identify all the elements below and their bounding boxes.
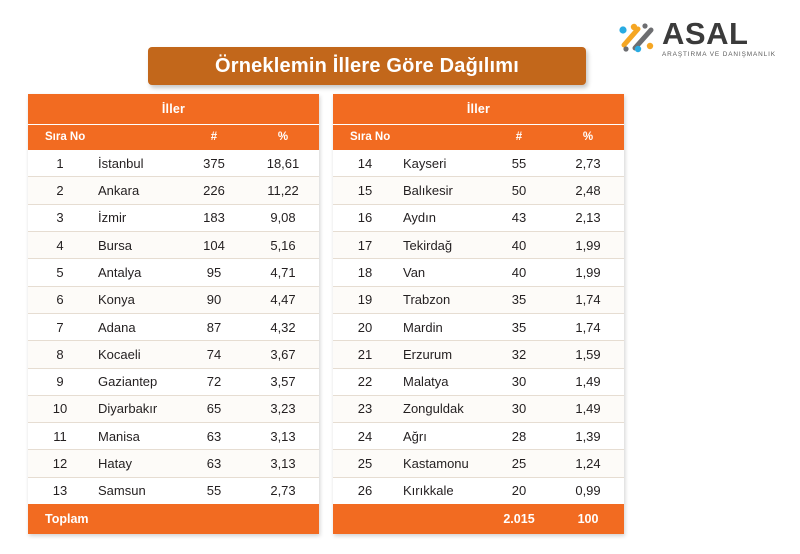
cell-percent: 18,61 <box>247 156 319 171</box>
cell-sira-no: 6 <box>28 292 92 307</box>
cell-count: 20 <box>486 483 552 498</box>
cell-percent: 11,22 <box>247 183 319 198</box>
cell-sira-no: 11 <box>28 429 92 444</box>
table-row[interactable]: 19 Trabzon 35 1,74 <box>333 287 624 314</box>
cell-sira-no: 3 <box>28 210 92 225</box>
cell-percent: 1,49 <box>552 374 624 389</box>
cell-percent: 4,71 <box>247 265 319 280</box>
cell-percent: 2,48 <box>552 183 624 198</box>
cell-count: 30 <box>486 374 552 389</box>
cell-count: 90 <box>181 292 247 307</box>
table-row[interactable]: 14 Kayseri 55 2,73 <box>333 150 624 177</box>
table-footer-left: Toplam <box>28 504 319 534</box>
cell-name: Kırıkkale <box>397 483 486 498</box>
cell-sira-no: 23 <box>333 401 397 416</box>
cell-percent: 5,16 <box>247 238 319 253</box>
cell-sira-no: 13 <box>28 483 92 498</box>
cell-name: Trabzon <box>397 292 486 307</box>
table-row[interactable]: 8 Kocaeli 74 3,67 <box>28 341 319 368</box>
cell-sira-no: 9 <box>28 374 92 389</box>
cell-name: Manisa <box>92 429 181 444</box>
cell-name: Kayseri <box>397 156 486 171</box>
cell-name: İzmir <box>92 210 181 225</box>
cell-sira-no: 17 <box>333 238 397 253</box>
cell-count: 28 <box>486 429 552 444</box>
cell-percent: 4,32 <box>247 320 319 335</box>
table-row[interactable]: 7 Adana 87 4,32 <box>28 314 319 341</box>
table-row[interactable]: 24 Ağrı 28 1,39 <box>333 423 624 450</box>
cell-name: Ağrı <box>397 429 486 444</box>
cell-percent: 1,99 <box>552 265 624 280</box>
table-body-left: 1 İstanbul 375 18,61 2 Ankara 226 11,22 … <box>28 150 319 504</box>
asal-logo: ASAL ARAŞTIRMA VE DANIŞMANLIK <box>618 14 778 62</box>
cell-count: 65 <box>181 401 247 416</box>
cell-count: 25 <box>486 456 552 471</box>
cell-percent: 1,49 <box>552 401 624 416</box>
cell-percent: 3,23 <box>247 401 319 416</box>
table-row[interactable]: 10 Diyarbakır 65 3,23 <box>28 396 319 423</box>
cell-sira-no: 12 <box>28 456 92 471</box>
cell-percent: 1,59 <box>552 347 624 362</box>
table-row[interactable]: 11 Manisa 63 3,13 <box>28 423 319 450</box>
cell-name: Balıkesir <box>397 183 486 198</box>
table-row[interactable]: 9 Gaziantep 72 3,57 <box>28 369 319 396</box>
table-footer-right: 2.015 100 <box>333 504 624 534</box>
cell-name: Zonguldak <box>397 401 486 416</box>
table-group-header: İller <box>333 94 624 124</box>
cell-percent: 9,08 <box>247 210 319 225</box>
cell-name: Van <box>397 265 486 280</box>
table-row[interactable]: 12 Hatay 63 3,13 <box>28 450 319 477</box>
cell-percent: 1,39 <box>552 429 624 444</box>
column-header-percent: % <box>247 131 319 143</box>
cell-count: 43 <box>486 210 552 225</box>
table-row[interactable]: 26 Kırıkkale 20 0,99 <box>333 478 624 504</box>
cell-count: 55 <box>486 156 552 171</box>
cell-percent: 0,99 <box>552 483 624 498</box>
table-row[interactable]: 23 Zonguldak 30 1,49 <box>333 396 624 423</box>
cell-percent: 2,73 <box>552 156 624 171</box>
cell-name: Malatya <box>397 374 486 389</box>
cell-name: Samsun <box>92 483 181 498</box>
cell-name: Antalya <box>92 265 181 280</box>
cell-name: Kastamonu <box>397 456 486 471</box>
cell-percent: 3,13 <box>247 456 319 471</box>
cell-name: Mardin <box>397 320 486 335</box>
cell-sira-no: 22 <box>333 374 397 389</box>
table-column-headers: Sıra No # % <box>333 124 624 150</box>
cell-percent: 3,13 <box>247 429 319 444</box>
column-header-count: # <box>181 131 247 143</box>
cell-name: Aydın <box>397 210 486 225</box>
table-row[interactable]: 21 Erzurum 32 1,59 <box>333 341 624 368</box>
cell-sira-no: 10 <box>28 401 92 416</box>
cell-percent: 4,47 <box>247 292 319 307</box>
cell-name: Hatay <box>92 456 181 471</box>
asal-logo-wordmark: ASAL <box>662 18 776 49</box>
table-row[interactable]: 17 Tekirdağ 40 1,99 <box>333 232 624 259</box>
cell-name: Erzurum <box>397 347 486 362</box>
cell-sira-no: 18 <box>333 265 397 280</box>
page-title: Örneklemin İllere Göre Dağılımı <box>215 55 519 78</box>
cell-sira-no: 14 <box>333 156 397 171</box>
cell-count: 87 <box>181 320 247 335</box>
table-row[interactable]: 4 Bursa 104 5,16 <box>28 232 319 259</box>
cell-count: 50 <box>486 183 552 198</box>
cell-count: 35 <box>486 292 552 307</box>
cell-name: Bursa <box>92 238 181 253</box>
cell-sira-no: 8 <box>28 347 92 362</box>
table-row[interactable]: 3 İzmir 183 9,08 <box>28 205 319 232</box>
table-row[interactable]: 20 Mardin 35 1,74 <box>333 314 624 341</box>
cell-count: 40 <box>486 238 552 253</box>
cell-sira-no: 26 <box>333 483 397 498</box>
cell-name: Gaziantep <box>92 374 181 389</box>
cell-percent: 2,73 <box>247 483 319 498</box>
cell-name: Diyarbakır <box>92 401 181 416</box>
tables-container: İller Sıra No # % 1 İstanbul 375 18,61 2… <box>28 94 624 534</box>
cell-sira-no: 15 <box>333 183 397 198</box>
cell-count: 72 <box>181 374 247 389</box>
asal-logo-text: ASAL ARAŞTIRMA VE DANIŞMANLIK <box>662 18 776 58</box>
table-row[interactable]: 1 İstanbul 375 18,61 <box>28 150 319 177</box>
cell-count: 55 <box>181 483 247 498</box>
cell-percent: 1,74 <box>552 292 624 307</box>
table-row[interactable]: 2 Ankara 226 11,22 <box>28 177 319 204</box>
table-row[interactable]: 5 Antalya 95 4,71 <box>28 259 319 286</box>
cell-name: Adana <box>92 320 181 335</box>
cell-percent: 1,99 <box>552 238 624 253</box>
title-banner: Örneklemin İllere Göre Dağılımı <box>148 47 586 85</box>
cell-count: 63 <box>181 456 247 471</box>
cell-count: 32 <box>486 347 552 362</box>
cell-name: Kocaeli <box>92 347 181 362</box>
cell-count: 74 <box>181 347 247 362</box>
cell-name: Tekirdağ <box>397 238 486 253</box>
cell-sira-no: 16 <box>333 210 397 225</box>
footer-total-percent: 100 <box>552 512 624 526</box>
provinces-table-right: İller Sıra No # % 14 Kayseri 55 2,73 15 … <box>333 94 624 534</box>
column-header-sira-no: Sıra No <box>28 131 109 143</box>
table-row[interactable]: 22 Malatya 30 1,49 <box>333 369 624 396</box>
cell-count: 95 <box>181 265 247 280</box>
cell-count: 40 <box>486 265 552 280</box>
column-header-name <box>414 131 486 143</box>
footer-label: Toplam <box>28 512 109 526</box>
table-group-header: İller <box>28 94 319 124</box>
cell-sira-no: 4 <box>28 238 92 253</box>
table-row[interactable]: 6 Konya 90 4,47 <box>28 287 319 314</box>
table-row[interactable]: 16 Aydın 43 2,13 <box>333 205 624 232</box>
column-header-percent: % <box>552 131 624 143</box>
asal-logo-subtitle: ARAŞTIRMA VE DANIŞMANLIK <box>662 51 776 58</box>
cell-sira-no: 24 <box>333 429 397 444</box>
table-column-headers: Sıra No # % <box>28 124 319 150</box>
cell-count: 35 <box>486 320 552 335</box>
cell-sira-no: 5 <box>28 265 92 280</box>
cell-sira-no: 7 <box>28 320 92 335</box>
asal-logo-mark-icon <box>618 21 660 55</box>
cell-sira-no: 19 <box>333 292 397 307</box>
cell-name: Ankara <box>92 183 181 198</box>
cell-count: 30 <box>486 401 552 416</box>
cell-sira-no: 1 <box>28 156 92 171</box>
cell-count: 226 <box>181 183 247 198</box>
cell-sira-no: 2 <box>28 183 92 198</box>
table-row[interactable]: 15 Balıkesir 50 2,48 <box>333 177 624 204</box>
cell-sira-no: 21 <box>333 347 397 362</box>
cell-percent: 3,67 <box>247 347 319 362</box>
cell-count: 104 <box>181 238 247 253</box>
column-header-count: # <box>486 131 552 143</box>
table-row[interactable]: 13 Samsun 55 2,73 <box>28 478 319 504</box>
cell-percent: 1,74 <box>552 320 624 335</box>
cell-count: 63 <box>181 429 247 444</box>
cell-sira-no: 20 <box>333 320 397 335</box>
cell-name: Konya <box>92 292 181 307</box>
footer-total-count: 2.015 <box>486 512 552 526</box>
cell-percent: 1,24 <box>552 456 624 471</box>
column-header-name <box>109 131 181 143</box>
table-row[interactable]: 18 Van 40 1,99 <box>333 259 624 286</box>
provinces-table-left: İller Sıra No # % 1 İstanbul 375 18,61 2… <box>28 94 319 534</box>
cell-count: 183 <box>181 210 247 225</box>
table-body-right: 14 Kayseri 55 2,73 15 Balıkesir 50 2,48 … <box>333 150 624 504</box>
table-row[interactable]: 25 Kastamonu 25 1,24 <box>333 450 624 477</box>
cell-percent: 3,57 <box>247 374 319 389</box>
cell-percent: 2,13 <box>552 210 624 225</box>
cell-sira-no: 25 <box>333 456 397 471</box>
column-header-sira-no: Sıra No <box>333 131 414 143</box>
cell-name: İstanbul <box>92 156 181 171</box>
cell-count: 375 <box>181 156 247 171</box>
